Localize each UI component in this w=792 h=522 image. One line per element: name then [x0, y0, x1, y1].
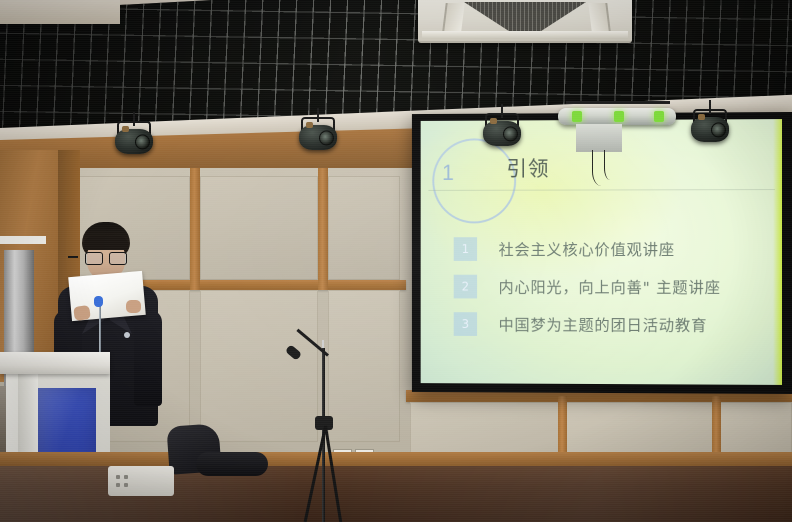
- presenter-arm-right: [134, 310, 162, 406]
- light-knob: [490, 118, 497, 124]
- slide-bullet-number: 3: [454, 312, 477, 336]
- slide-bullet-row: 3 中国梦为主题的团日活动教育: [454, 312, 708, 337]
- slide-bullet-row: 2 内心阳光，向上向善" 主题讲座: [454, 275, 721, 299]
- light-housing: [299, 125, 337, 150]
- glasses-bridge: [68, 256, 78, 258]
- stage-light: [688, 100, 732, 144]
- screen-edge-glow: [773, 119, 782, 385]
- presenter-hand-left: [73, 305, 91, 321]
- light-knob: [122, 126, 129, 132]
- glasses-icon: [85, 252, 127, 263]
- air-conditioner-cassette: [418, 0, 632, 45]
- lamp-indicator-icon: [654, 111, 664, 122]
- light-lens-icon: [135, 134, 150, 149]
- light-housing: [115, 129, 153, 154]
- microphone-capsule-icon: [285, 344, 302, 361]
- wall-panel: [328, 176, 400, 280]
- light-knob: [306, 122, 313, 128]
- ac-vane-left: [442, 3, 464, 31]
- slide-section-number: 1: [442, 160, 454, 186]
- light-housing: [483, 121, 521, 146]
- wall-stile: [190, 168, 200, 290]
- slide-title: 引领: [506, 153, 549, 183]
- stage-light: [112, 112, 156, 156]
- projector-unit: [108, 466, 174, 496]
- lamp-indicator-icon: [572, 111, 582, 122]
- presenter-fringe: [83, 236, 129, 250]
- stand-boom-arm: [296, 329, 329, 357]
- stand-leg: [324, 426, 342, 522]
- podium-desktop: [0, 352, 110, 374]
- stage-light: [296, 108, 340, 152]
- light-lens-icon: [503, 126, 518, 141]
- presenter-hand-right: [126, 300, 141, 313]
- hanging-cable: [604, 150, 619, 180]
- lapel-badge: [124, 332, 130, 338]
- left-frame-trim: [0, 236, 46, 244]
- projector-button: [124, 483, 128, 487]
- projector-button: [116, 483, 120, 487]
- light-housing: [691, 117, 729, 142]
- boom-microphone-stand: [286, 330, 376, 522]
- projector-button: [124, 475, 128, 479]
- light-lens-icon: [319, 130, 334, 145]
- fluorescent-light-bar: [558, 108, 676, 125]
- light-knob: [698, 114, 705, 120]
- wall-stile: [318, 168, 328, 290]
- ac-vane-right: [588, 3, 610, 31]
- lecture-hall-photo: 1 引领 1 社会主义核心价值观讲座 2 内心阳光，向上向善" 主题讲座 3 中…: [0, 0, 792, 522]
- lamp-indicator-icon: [614, 111, 624, 122]
- ac-bottom-lip: [422, 31, 628, 39]
- slide-bullet-number: 2: [454, 275, 477, 299]
- slide-bullet-text: 社会主义核心价值观讲座: [499, 238, 675, 260]
- stage-light: [480, 104, 524, 148]
- slide-bullet-text: 内心阳光，向上向善" 主题讲座: [499, 276, 721, 298]
- slide-bullet-row: 1 社会主义核心价值观讲座: [454, 237, 675, 261]
- light-bar-rail: [566, 101, 670, 104]
- light-bar-junction-box: [576, 124, 622, 152]
- light-lens-icon: [711, 122, 726, 137]
- mic-head-icon: [94, 296, 103, 307]
- slide-bullet-text: 中国梦为主题的团日活动教育: [499, 313, 708, 335]
- ceiling-left-slab: [0, 0, 120, 24]
- slide-bullet-number: 1: [454, 237, 477, 261]
- wall-panel: [200, 176, 318, 280]
- black-bag-flat: [196, 452, 268, 476]
- projector-button: [116, 475, 120, 479]
